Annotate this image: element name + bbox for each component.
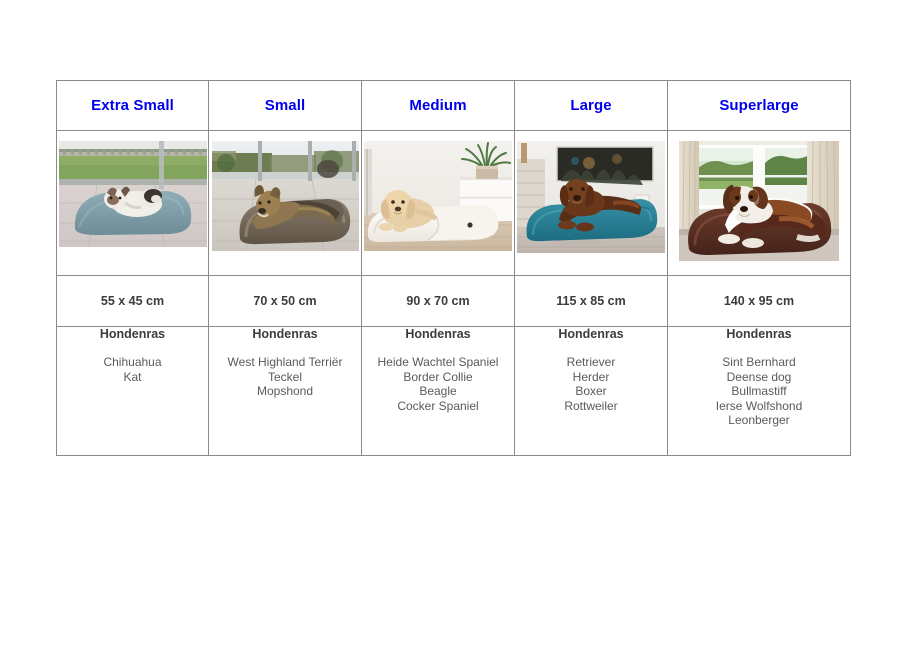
photo-large-image: Dog's Companion (517, 141, 665, 253)
header-cell-extra-small: Extra Small (57, 81, 209, 131)
breed-list: Sint Bernhard Deense dog Bullmastiff Ier… (668, 355, 850, 428)
breed-item: Cocker Spaniel (362, 399, 514, 414)
breeds-title: Hondenras (209, 327, 361, 341)
dimension-cell-medium: 90 x 70 cm (362, 276, 515, 327)
breeds-title: Hondenras (57, 327, 208, 341)
header-cell-large: Large (515, 81, 668, 131)
size-header-label: Extra Small (91, 97, 174, 114)
photo-large-dog-bed: Dog's Companion (517, 141, 665, 253)
dimension-label: 55 x 45 cm (101, 294, 164, 308)
breed-list: Chihuahua Kat (57, 355, 208, 384)
breed-item: Heide Wachtel Spaniel (362, 355, 514, 370)
breeds-title: Hondenras (362, 327, 514, 341)
photo-medium-dog-bed (364, 141, 512, 251)
dimension-label: 90 x 70 cm (406, 294, 469, 308)
breed-item: Border Collie (362, 370, 514, 385)
breed-item: Herder (515, 370, 667, 385)
dimension-cell-small: 70 x 50 cm (209, 276, 362, 327)
breeds-cell-large: Hondenras Retriever Herder Boxer Rottwei… (515, 327, 668, 456)
header-cell-medium: Medium (362, 81, 515, 131)
dimension-label: 140 x 95 cm (724, 294, 794, 308)
breed-item: Beagle (362, 384, 514, 399)
dimension-cell-large: 115 x 85 cm (515, 276, 668, 327)
breed-item: Mopshond (209, 384, 361, 399)
breed-item: Teckel (209, 370, 361, 385)
photo-superlarge-image (679, 141, 839, 261)
breed-item: Chihuahua (57, 355, 208, 370)
table-photo-row: Dog's Companion (57, 131, 851, 276)
table-breeds-row: Hondenras Chihuahua Kat Hondenras West H… (57, 327, 851, 456)
photo-cell-medium (362, 131, 515, 276)
breed-item: Boxer (515, 384, 667, 399)
photo-cell-superlarge (668, 131, 851, 276)
dimension-label: 115 x 85 cm (556, 294, 626, 308)
breeds-cell-small: Hondenras West Highland Terriër Teckel M… (209, 327, 362, 456)
photo-cell-extra-small (57, 131, 209, 276)
breed-list: Heide Wachtel Spaniel Border Collie Beag… (362, 355, 514, 413)
photo-cell-large: Dog's Companion (515, 131, 668, 276)
table-dimension-row: 55 x 45 cm 70 x 50 cm 90 x 70 cm 115 x 8… (57, 276, 851, 327)
breed-item: Retriever (515, 355, 667, 370)
header-cell-small: Small (209, 81, 362, 131)
breed-item: Kat (57, 370, 208, 385)
header-cell-superlarge: Superlarge (668, 81, 851, 131)
breed-item: Leonberger (668, 413, 850, 428)
photo-extra-small-image (59, 141, 207, 247)
breed-list: Retriever Herder Boxer Rottweiler (515, 355, 667, 413)
breed-item: Deense dog (668, 370, 850, 385)
dimension-cell-superlarge: 140 x 95 cm (668, 276, 851, 327)
breeds-cell-extra-small: Hondenras Chihuahua Kat (57, 327, 209, 456)
photo-cell-small (209, 131, 362, 276)
breed-item: Sint Bernhard (668, 355, 850, 370)
size-header-label: Superlarge (719, 97, 798, 114)
size-header-label: Medium (409, 97, 466, 114)
dog-bed-size-table: Extra Small Small Medium Large Superlarg… (56, 80, 851, 456)
breed-item: Rottweiler (515, 399, 667, 414)
breed-item: Bullmastiff (668, 384, 850, 399)
dimension-cell-extra-small: 55 x 45 cm (57, 276, 209, 327)
svg-text:Dog's Companion: Dog's Companion (553, 240, 601, 246)
breed-item: West Highland Terriër (209, 355, 361, 370)
breeds-title: Hondenras (668, 327, 850, 341)
photo-small-image (212, 141, 359, 251)
photo-medium-image (364, 141, 512, 251)
photo-small-dog-bed (212, 141, 359, 251)
photo-superlarge-dog-bed (679, 141, 839, 261)
breeds-title: Hondenras (515, 327, 667, 341)
breeds-cell-superlarge: Hondenras Sint Bernhard Deense dog Bullm… (668, 327, 851, 456)
photo-extra-small-dog-bed (59, 141, 207, 247)
dimension-label: 70 x 50 cm (253, 294, 316, 308)
table-header-row: Extra Small Small Medium Large Superlarg… (57, 81, 851, 131)
breed-item: Ierse Wolfshond (668, 399, 850, 414)
size-header-label: Large (570, 97, 611, 114)
breed-list: West Highland Terriër Teckel Mopshond (209, 355, 361, 399)
size-header-label: Small (265, 97, 306, 114)
breeds-cell-medium: Hondenras Heide Wachtel Spaniel Border C… (362, 327, 515, 456)
